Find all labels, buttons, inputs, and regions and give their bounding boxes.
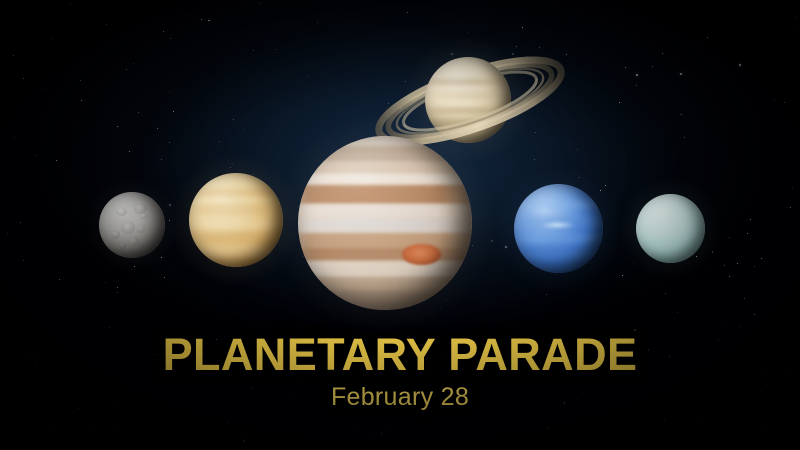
planet-venus: [189, 173, 283, 267]
page-title: PLANETARY PARADE: [0, 331, 800, 379]
planetary-parade-poster: PLANETARY PARADE February 28: [0, 0, 800, 450]
planet-neptune: [514, 184, 603, 273]
planet-jupiter: [298, 136, 472, 310]
planet-mercury: [99, 192, 165, 258]
poster-subtitle-date: February 28: [0, 383, 800, 411]
planet-saturn: [425, 57, 511, 143]
title-block: PLANETARY PARADE February 28: [0, 331, 800, 411]
planet-uranus: [636, 194, 705, 263]
